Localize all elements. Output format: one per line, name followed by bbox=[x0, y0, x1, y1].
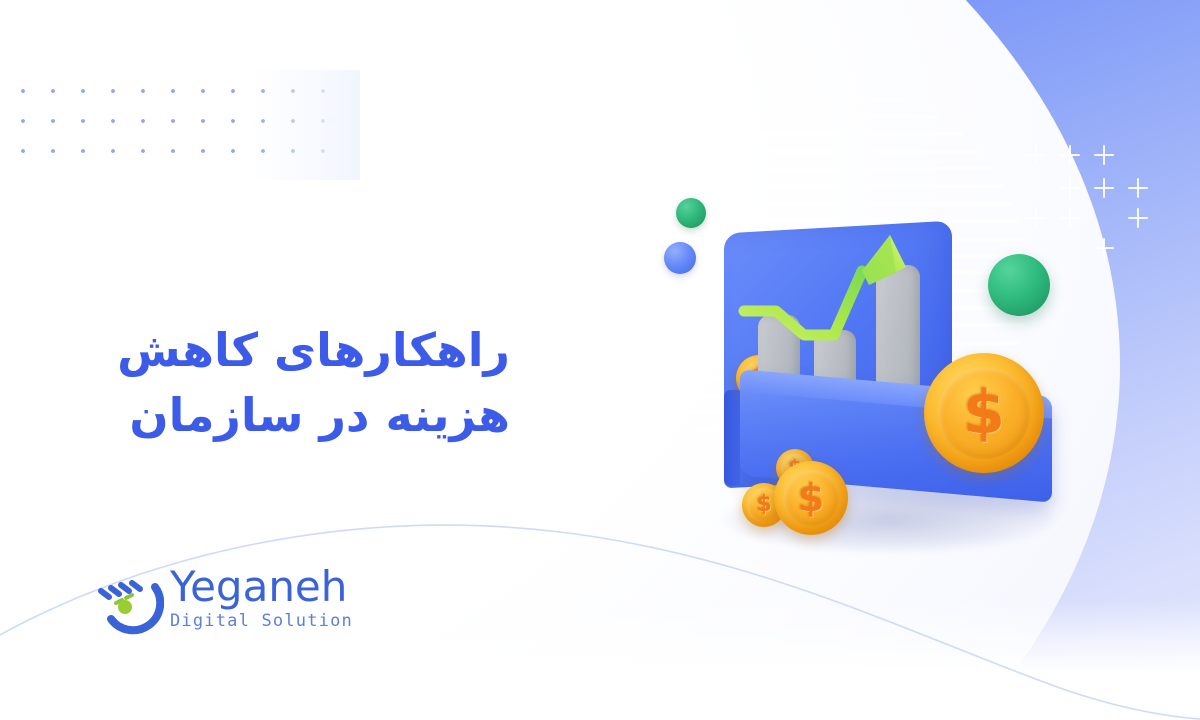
coin-inner: $ bbox=[938, 367, 1029, 458]
dollar-symbol-icon: $ bbox=[756, 494, 771, 516]
brand-name: Yeganeh bbox=[170, 565, 350, 609]
sphere-line bbox=[746, 97, 909, 101]
brand-logo-text: Yeganeh Digital Solution bbox=[170, 565, 350, 631]
coin-medium: $ bbox=[774, 461, 848, 535]
plus-mark-icon bbox=[1094, 178, 1114, 198]
promo-banner: $ bbox=[0, 0, 1200, 720]
growth-chart-illustration: $ bbox=[690, 205, 1090, 565]
dollar-symbol-icon: $ bbox=[963, 383, 1005, 443]
plus-mark-icon bbox=[1128, 178, 1148, 198]
brand-logo[interactable]: Yeganeh Digital Solution bbox=[98, 563, 348, 659]
plus-mark-icon bbox=[1026, 145, 1046, 165]
coin-large: $ bbox=[924, 353, 1044, 473]
dot-grid-fade-overlay bbox=[250, 70, 360, 180]
brand-tagline: Digital Solution bbox=[170, 611, 350, 631]
plus-mark-icon bbox=[1060, 145, 1080, 165]
plus-mark-icon bbox=[1094, 145, 1114, 165]
sphere-line bbox=[663, 167, 993, 171]
dollar-symbol-icon: $ bbox=[798, 479, 824, 517]
plus-mark-icon bbox=[1128, 208, 1148, 228]
coin-inner: $ bbox=[783, 470, 839, 526]
sphere-line bbox=[693, 132, 962, 136]
plus-mark-icon bbox=[1060, 178, 1080, 198]
yeganeh-logo-mark-icon bbox=[98, 567, 164, 641]
page-title: راهکارهای کاهش هزینه در سازمان bbox=[70, 318, 510, 449]
headline-line-2: هزینه در سازمان bbox=[70, 383, 510, 448]
sphere-line bbox=[715, 115, 940, 119]
sphere-line bbox=[676, 150, 979, 154]
plus-mark-icon bbox=[1094, 238, 1114, 258]
headline-line-1: راهکارهای کاهش bbox=[117, 323, 510, 377]
sphere-line bbox=[652, 184, 1003, 188]
